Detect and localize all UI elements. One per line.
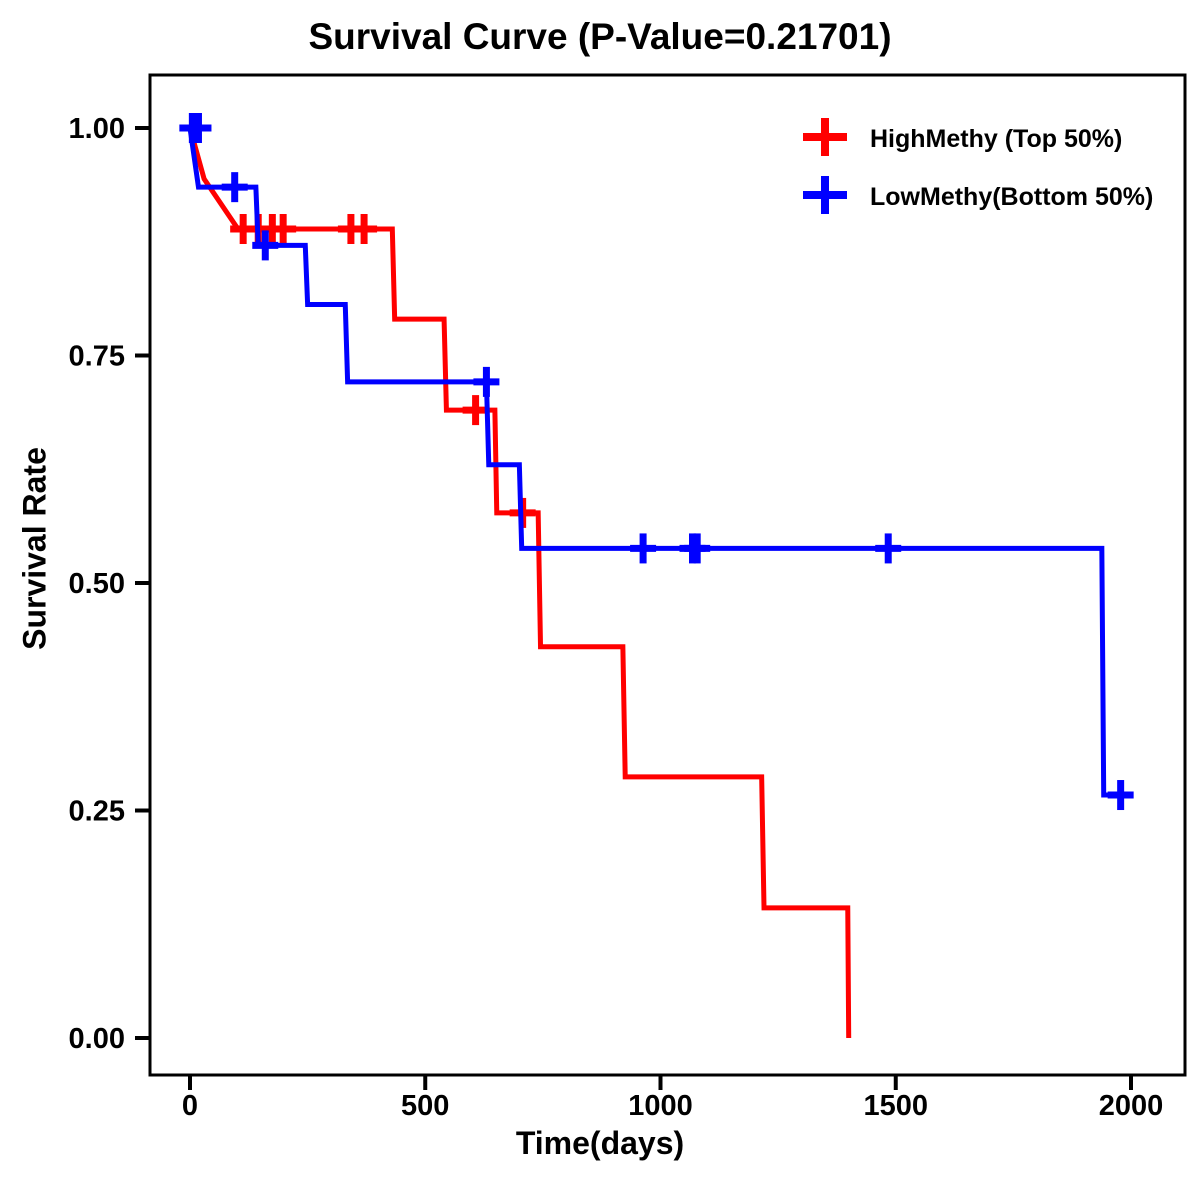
survival-curve-figure: Survival Curve (P-Value=0.21701) Surviva… — [0, 0, 1200, 1200]
x-tick-label: 2000 — [1099, 1090, 1164, 1122]
x-tick-label: 1500 — [863, 1090, 928, 1122]
y-tick-label: 1.00 — [69, 113, 125, 145]
x-tick-label: 0 — [182, 1090, 198, 1122]
y-axis-ticks: 0.000.250.500.751.00 — [69, 113, 150, 1055]
plot-area: 0500100015002000 0.000.250.500.751.00 Hi… — [0, 0, 1200, 1200]
x-axis-ticks: 0500100015002000 — [182, 1075, 1163, 1122]
y-tick-label: 0.50 — [69, 568, 125, 600]
y-tick-label: 0.75 — [69, 341, 125, 373]
y-tick-label: 0.00 — [69, 1023, 125, 1055]
x-tick-label: 500 — [401, 1090, 449, 1122]
y-tick-label: 0.25 — [69, 796, 125, 828]
plot-frame — [150, 75, 1185, 1075]
legend-label: HighMethy (Top 50%) — [870, 125, 1122, 153]
x-tick-label: 1000 — [628, 1090, 693, 1122]
legend-label: LowMethy(Bottom 50%) — [870, 183, 1153, 211]
